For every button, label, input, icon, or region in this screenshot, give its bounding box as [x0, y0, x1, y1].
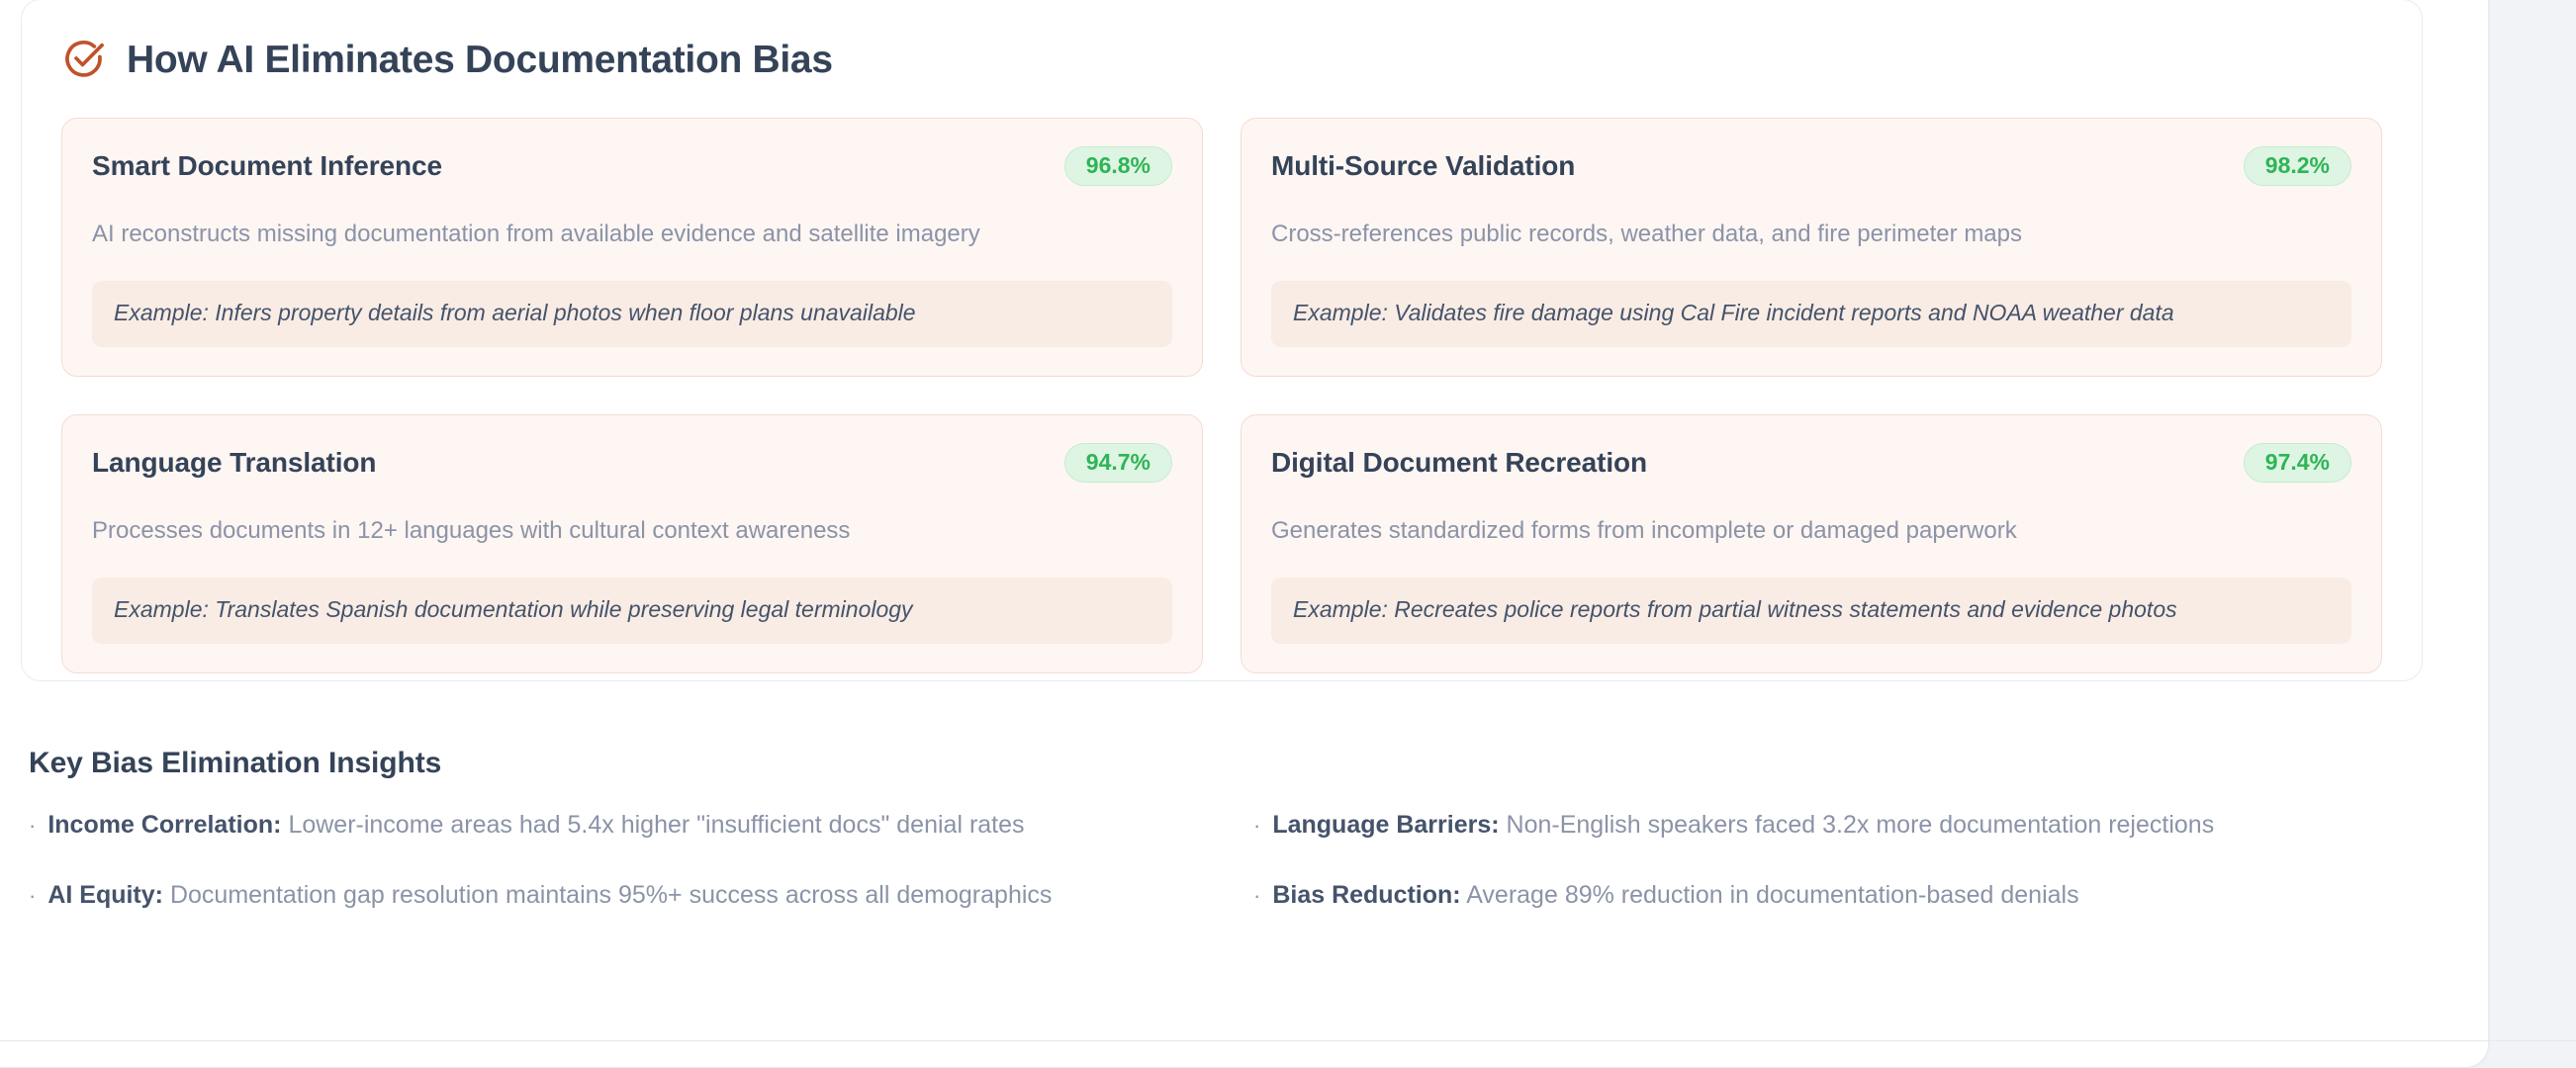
insight-text: Documentation gap resolution maintains 9… [170, 881, 1052, 909]
insights-title: Key Bias Elimination Insights [29, 747, 2423, 780]
bullet-icon: · [1253, 815, 1260, 837]
feature-card[interactable]: Digital Document Recreation 97.4% Genera… [1241, 414, 2382, 673]
feature-card-grid: Smart Document Inference 96.8% AI recons… [22, 81, 2422, 673]
insight-text: Lower-income areas had 5.4x higher "insu… [288, 811, 1024, 839]
feature-card-title: Language Translation [92, 447, 376, 479]
bullet-icon: · [1253, 885, 1260, 907]
insights-section: Key Bias Elimination Insights · Income C… [29, 747, 2423, 912]
accuracy-badge: 98.2% [2244, 146, 2351, 186]
insight-text: Non-English speakers faced 3.2x more doc… [1507, 811, 2215, 839]
section-header: How AI Eliminates Documentation Bias [22, 0, 2422, 81]
feature-card-description: Generates standardized forms from incomp… [1271, 515, 2351, 546]
bullet-icon: · [29, 815, 36, 837]
check-circle-icon [61, 38, 105, 81]
documentation-bias-panel: How AI Eliminates Documentation Bias Sma… [21, 0, 2423, 681]
feature-card-description: AI reconstructs missing documentation fr… [92, 219, 1172, 249]
feature-card-example-text: Example: Recreates police reports from p… [1293, 596, 2330, 624]
feature-card-title: Multi-Source Validation [1271, 150, 1575, 182]
feature-card-header: Multi-Source Validation 98.2% [1271, 146, 2351, 186]
bottom-divider [0, 1040, 2576, 1041]
feature-card-example-box: Example: Infers property details from ae… [92, 281, 1172, 347]
feature-card-header: Smart Document Inference 96.8% [92, 146, 1172, 186]
list-item: · Language Barriers: Non-English speaker… [1253, 810, 2423, 841]
feature-card-title: Digital Document Recreation [1271, 447, 1647, 479]
feature-card-example-box: Example: Translates Spanish documentatio… [92, 578, 1172, 644]
feature-card-title: Smart Document Inference [92, 150, 442, 182]
list-item: · Income Correlation: Lower-income areas… [29, 810, 1198, 841]
list-item: · Bias Reduction: Average 89% reduction … [1253, 880, 2423, 911]
insight-label: Income Correlation: [47, 811, 281, 839]
feature-card[interactable]: Language Translation 94.7% Processes doc… [61, 414, 1203, 673]
feature-card-example-text: Example: Validates fire damage using Cal… [1293, 300, 2330, 327]
accuracy-badge: 96.8% [1064, 146, 1172, 186]
insight-label: Language Barriers: [1272, 811, 1499, 839]
accuracy-badge: 94.7% [1064, 443, 1172, 483]
feature-card-header: Digital Document Recreation 97.4% [1271, 443, 2351, 483]
feature-card-example-text: Example: Translates Spanish documentatio… [114, 596, 1150, 624]
list-item: · AI Equity: Documentation gap resolutio… [29, 880, 1198, 911]
insight-label: Bias Reduction: [1272, 881, 1460, 909]
feature-card-header: Language Translation 94.7% [92, 443, 1172, 483]
feature-card-description: Cross-references public records, weather… [1271, 219, 2351, 249]
feature-card-example-box: Example: Validates fire damage using Cal… [1271, 281, 2351, 347]
feature-card[interactable]: Multi-Source Validation 98.2% Cross-refe… [1241, 118, 2382, 377]
feature-card-example-box: Example: Recreates police reports from p… [1271, 578, 2351, 644]
accuracy-badge: 97.4% [2244, 443, 2351, 483]
insight-text: Average 89% reduction in documentation-b… [1466, 881, 2078, 909]
feature-card-example-text: Example: Infers property details from ae… [114, 300, 1150, 327]
feature-card[interactable]: Smart Document Inference 96.8% AI recons… [61, 118, 1203, 377]
bullet-icon: · [29, 885, 36, 907]
feature-card-description: Processes documents in 12+ languages wit… [92, 515, 1172, 546]
insights-list: · Income Correlation: Lower-income areas… [29, 810, 2423, 912]
page-title: How AI Eliminates Documentation Bias [127, 41, 833, 79]
page-container: How AI Eliminates Documentation Bias Sma… [0, 0, 2489, 1068]
insight-label: AI Equity: [47, 881, 163, 909]
